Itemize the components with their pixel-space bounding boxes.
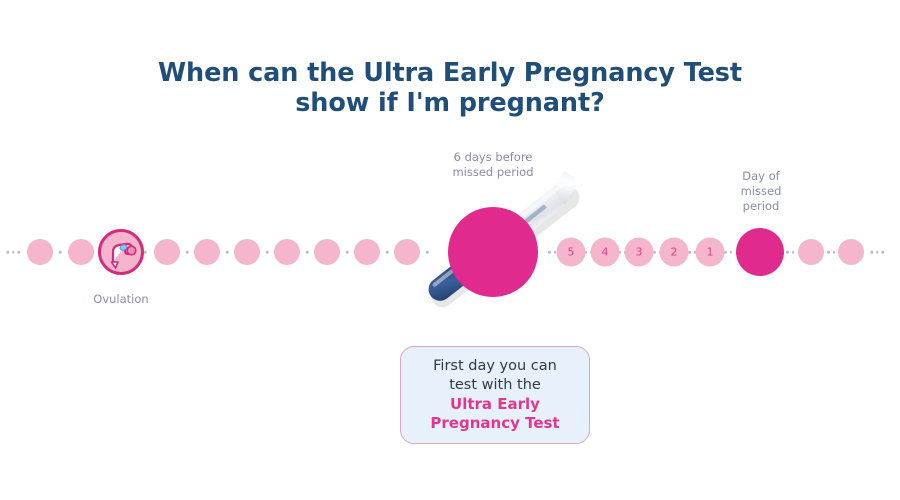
node-plain-7[interactable] xyxy=(314,239,340,265)
label-day-of-missed-period: Day of missed period xyxy=(706,169,816,214)
node-plain-6[interactable] xyxy=(274,239,300,265)
dots-end xyxy=(870,251,884,254)
node-plain-2[interactable] xyxy=(68,239,94,265)
connector-dot xyxy=(786,251,789,254)
connector-dot xyxy=(730,251,733,254)
node-day-3-label: 3 xyxy=(636,246,643,259)
dots-16 xyxy=(724,251,732,254)
node-day-2-label: 2 xyxy=(671,246,678,259)
label-six-days-before: 6 days before missed period xyxy=(413,150,573,180)
node-plain-11[interactable] xyxy=(838,239,864,265)
ovulation-vagina-shape xyxy=(112,262,119,268)
node-plain-9[interactable] xyxy=(394,239,420,265)
dots-8 xyxy=(346,251,349,254)
dots-start xyxy=(6,251,20,254)
label-six-days-line-1: 6 days before xyxy=(413,150,573,165)
node-plain-4[interactable] xyxy=(194,239,220,265)
node-day-3[interactable]: 3 xyxy=(625,238,654,267)
dots-6 xyxy=(266,251,269,254)
connector-dot xyxy=(346,251,349,254)
dots-10 xyxy=(426,251,429,254)
infographic-canvas: When can the Ultra Early Pregnancy Test … xyxy=(0,0,900,500)
ovulation-uterus-icon xyxy=(101,232,141,272)
label-missed-line-1: Day of xyxy=(706,169,816,184)
dots-17 xyxy=(786,251,794,254)
ovulation-ovary-shape xyxy=(127,246,136,255)
dots-7 xyxy=(306,251,309,254)
connector-dot xyxy=(870,251,873,254)
dots-9 xyxy=(386,251,389,254)
dots-11 xyxy=(548,251,556,254)
connector-dot xyxy=(59,251,62,254)
connector-dot xyxy=(6,251,9,254)
node-day-5-label: 5 xyxy=(568,246,575,259)
connector-dot xyxy=(144,251,147,254)
node-day-1[interactable]: 1 xyxy=(696,238,725,267)
node-day-4-label: 4 xyxy=(602,246,609,259)
dots-5 xyxy=(226,251,229,254)
node-six-days[interactable] xyxy=(448,207,538,297)
connector-dot xyxy=(186,251,189,254)
node-plain-1[interactable] xyxy=(27,239,53,265)
dots-3 xyxy=(144,251,147,254)
dots-18 xyxy=(827,251,835,254)
connector-dot xyxy=(876,251,879,254)
connector-dot xyxy=(226,251,229,254)
connector-dot xyxy=(792,251,795,254)
connector-dot xyxy=(306,251,309,254)
label-ovulation: Ovulation xyxy=(61,292,181,307)
connector-dot xyxy=(266,251,269,254)
node-plain-8[interactable] xyxy=(354,239,380,265)
connector-dot xyxy=(12,251,15,254)
connector-dot xyxy=(827,251,830,254)
connector-dot xyxy=(426,251,429,254)
node-day-4[interactable]: 4 xyxy=(591,238,620,267)
connector-dot xyxy=(548,251,551,254)
callout-line-2: test with the xyxy=(449,376,541,395)
callout-box: First day you can test with the Ultra Ea… xyxy=(400,346,590,444)
node-missed-period[interactable] xyxy=(736,228,784,276)
callout-brand-line-2: Pregnancy Test xyxy=(430,414,559,433)
node-day-2[interactable]: 2 xyxy=(660,238,689,267)
node-plain-5[interactable] xyxy=(234,239,260,265)
node-day-1-label: 1 xyxy=(707,246,714,259)
callout-line-1: First day you can xyxy=(433,357,557,376)
dots-1 xyxy=(59,251,62,254)
node-day-5[interactable]: 5 xyxy=(557,238,586,267)
connector-dot xyxy=(881,251,884,254)
label-missed-line-2: missed xyxy=(706,184,816,199)
label-six-days-line-2: missed period xyxy=(413,165,573,180)
node-plain-10[interactable] xyxy=(798,239,824,265)
callout-brand-line-1: Ultra Early xyxy=(450,395,540,414)
label-missed-line-3: period xyxy=(706,199,816,214)
dots-4 xyxy=(186,251,189,254)
node-plain-3[interactable] xyxy=(154,239,180,265)
connector-dot xyxy=(386,251,389,254)
connector-dot xyxy=(17,251,20,254)
connector-dot xyxy=(833,251,836,254)
